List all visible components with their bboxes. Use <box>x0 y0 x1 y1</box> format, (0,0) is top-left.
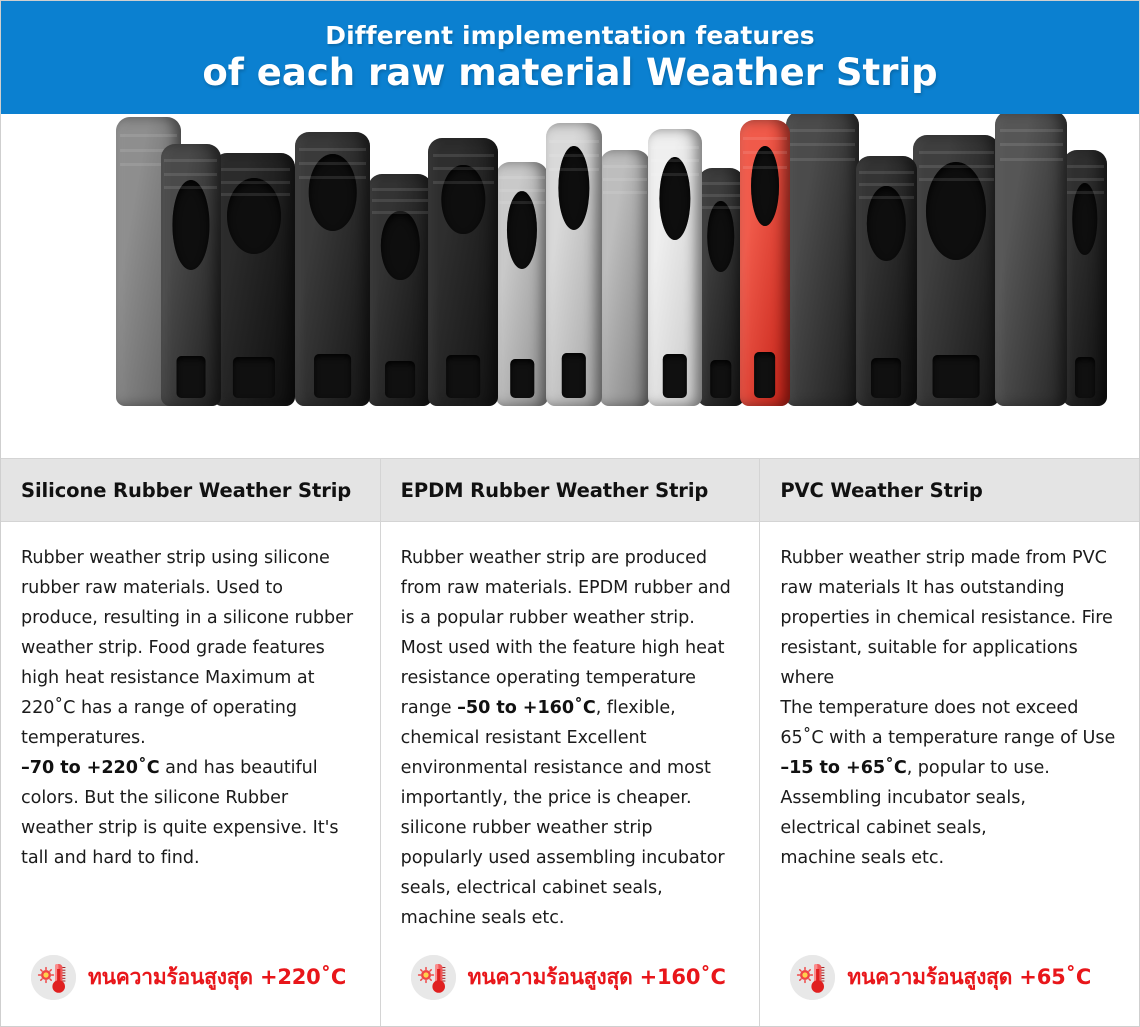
seal-rib <box>299 176 366 179</box>
column-description: Rubber weather strip using silicone rubb… <box>21 543 360 873</box>
banner-subtitle: Different implementation features <box>325 22 815 50</box>
seal-slot <box>871 358 901 398</box>
temperature-badge-label: ทนความร้อนสูงสุด +220˚C <box>88 961 346 994</box>
seal-rib <box>651 173 698 176</box>
seal-profile <box>913 135 999 406</box>
temperature-badge-label: ทนความร้อนสูงสุด +65˚C <box>847 961 1091 994</box>
body-text: electrical cabinet seals, <box>780 818 986 838</box>
seal-rib <box>372 199 428 202</box>
body-text: Assembling incubator seals, <box>780 788 1026 808</box>
seal-bore <box>558 146 589 231</box>
thermometer-icon <box>790 955 835 1000</box>
seal-rib <box>790 158 855 161</box>
seal-rib <box>603 178 647 181</box>
seal-rib <box>919 178 995 181</box>
seal-profile <box>213 153 295 406</box>
seal-slot <box>446 355 480 398</box>
seal-rib <box>790 129 855 132</box>
seal-profile <box>1063 150 1107 406</box>
column-spacer <box>780 873 1119 955</box>
column-title: PVC Weather Strip <box>780 479 982 502</box>
seal-rib <box>372 188 428 191</box>
seal-bore <box>381 211 419 281</box>
seal-rib <box>299 162 366 165</box>
seal-rib <box>1066 191 1105 194</box>
seal-bore <box>308 154 357 231</box>
seal-rib <box>651 146 698 149</box>
column-body-epdm: Rubber weather strip are produced from r… <box>381 522 760 1026</box>
seal-slot <box>562 353 586 398</box>
seal-bore <box>172 180 209 269</box>
seal-rib <box>433 154 494 157</box>
seal-rib <box>1000 129 1063 132</box>
seal-rib <box>218 193 290 196</box>
temperature-badge-epdm: ทนความร้อนสูงสุด +160˚C <box>401 955 740 1026</box>
seal-rib <box>651 159 698 162</box>
seal-rib <box>859 183 913 186</box>
seal-slot <box>1075 357 1095 398</box>
seal-slot <box>510 359 533 398</box>
seal-bore <box>751 146 779 226</box>
seal-slot <box>385 361 415 398</box>
body-text: Rubber weather strip using silicone rubb… <box>21 548 353 748</box>
seal-rib <box>499 189 545 192</box>
seal-profile <box>161 144 221 406</box>
column-header-pvc: PVC Weather Strip <box>760 459 1139 522</box>
weather-strip-photo <box>1 114 1139 458</box>
seal-profile <box>496 162 548 406</box>
comparison-table: Silicone Rubber Weather Strip Rubber wea… <box>1 458 1139 1026</box>
emphasis-text: –70 to +220˚C <box>21 758 160 778</box>
seal-slot <box>176 356 205 398</box>
seal-profile <box>856 156 918 406</box>
seal-rib <box>1066 178 1105 181</box>
temperature-badge-silicone: ทนความร้อนสูงสุด +220˚C <box>21 955 360 1026</box>
weather-strip-infographic: Different implementation features of eac… <box>0 0 1140 1027</box>
paragraph: Rubber weather strip made from PVC raw m… <box>780 543 1119 693</box>
seal-rib <box>743 151 787 154</box>
seal-profile <box>698 168 744 406</box>
body-text: machine seals etc. <box>780 848 944 868</box>
paragraph: Assembling incubator seals, <box>780 783 1119 813</box>
temperature-badge-label: ทนความร้อนสูงสุด +160˚C <box>468 961 726 994</box>
seal-rib <box>919 165 995 168</box>
seal-rib <box>919 151 995 154</box>
seal-rib <box>790 143 855 146</box>
seal-rib <box>743 166 787 169</box>
seal-bore <box>926 162 986 260</box>
seal-rib <box>549 168 598 171</box>
seal-rib <box>549 154 598 157</box>
column-body-silicone: Rubber weather strip using silicone rubb… <box>1 522 380 1026</box>
emphasis-text: –15 to +65˚C <box>780 758 906 778</box>
column-title: EPDM Rubber Weather Strip <box>401 479 709 502</box>
seal-bore <box>659 157 690 240</box>
seal-profile <box>546 123 602 406</box>
paragraph: Rubber weather strip using silicone rubb… <box>21 543 360 753</box>
seal-rib <box>603 191 647 194</box>
seal-rib <box>499 176 545 179</box>
emphasis-text: –50 to +160˚C <box>457 698 596 718</box>
seal-profile <box>295 132 371 406</box>
seal-rib <box>120 134 177 137</box>
seal-rib <box>603 165 647 168</box>
seal-rib <box>1066 165 1105 168</box>
seal-bore <box>1072 183 1097 255</box>
seal-rib <box>433 167 494 170</box>
seal-rib <box>701 194 741 197</box>
thermometer-icon <box>31 955 76 1000</box>
body-text: Rubber weather strip are produced from r… <box>401 548 731 718</box>
seal-slot <box>754 352 776 398</box>
seal-rib <box>218 181 290 184</box>
seal-rib <box>164 173 217 176</box>
seal-slot <box>710 360 731 398</box>
seal-rib <box>164 186 217 189</box>
seal-rib <box>1000 158 1063 161</box>
seal-rib <box>218 168 290 171</box>
paragraph: The temperature does not exceed 65˚C wit… <box>780 693 1119 783</box>
paragraph: electrical cabinet seals, <box>780 813 1119 843</box>
seal-rib <box>299 148 366 151</box>
column-spacer <box>401 933 740 955</box>
column-silicone: Silicone Rubber Weather Strip Rubber wea… <box>1 459 381 1026</box>
column-header-epdm: EPDM Rubber Weather Strip <box>381 459 760 522</box>
photo-fade <box>1 442 1139 458</box>
photo-inner <box>111 114 1109 406</box>
seal-rib <box>164 159 217 162</box>
body-text: The temperature does not exceed 65˚C wit… <box>780 698 1115 748</box>
column-header-silicone: Silicone Rubber Weather Strip <box>1 459 380 522</box>
column-epdm: EPDM Rubber Weather Strip Rubber weather… <box>381 459 761 1026</box>
paragraph: Rubber weather strip are produced from r… <box>401 543 740 933</box>
body-text: Rubber weather strip made from PVC raw m… <box>780 548 1112 688</box>
body-text: , popular to use. <box>907 758 1050 778</box>
seal-profile <box>995 114 1067 406</box>
seal-rib <box>1000 143 1063 146</box>
seal-profile <box>786 114 860 406</box>
column-description: Rubber weather strip are produced from r… <box>401 543 740 933</box>
seal-rib <box>701 182 741 185</box>
column-body-pvc: Rubber weather strip made from PVC raw m… <box>760 522 1139 1026</box>
seal-rib <box>859 196 913 199</box>
seal-profile <box>740 120 790 406</box>
seal-rib <box>433 181 494 184</box>
seal-bore <box>707 201 735 273</box>
seal-rib <box>372 211 428 214</box>
seal-rib <box>859 171 913 174</box>
banner-title: of each raw material Weather Strip <box>202 52 937 93</box>
seal-bore <box>442 165 485 235</box>
seal-profile <box>648 129 702 406</box>
seal-profile <box>428 138 498 406</box>
header-banner: Different implementation features of eac… <box>1 1 1139 114</box>
column-description: Rubber weather strip made from PVC raw m… <box>780 543 1119 873</box>
seal-profile <box>368 174 432 406</box>
paragraph: machine seals etc. <box>780 843 1119 873</box>
seal-rib <box>743 137 787 140</box>
seal-rib <box>701 206 741 209</box>
seal-profile <box>600 150 650 406</box>
seal-rib <box>499 201 545 204</box>
seal-slot <box>233 357 275 398</box>
column-pvc: PVC Weather Strip Rubber weather strip m… <box>760 459 1139 1026</box>
seal-bore <box>227 178 281 254</box>
seal-slot <box>314 354 352 398</box>
column-spacer <box>21 873 360 955</box>
temperature-badge-pvc: ทนความร้อนสูงสุด +65˚C <box>780 955 1119 1026</box>
seal-slot <box>933 355 980 398</box>
seal-slot <box>663 354 687 398</box>
column-title: Silicone Rubber Weather Strip <box>21 479 351 502</box>
thermometer-icon <box>411 955 456 1000</box>
body-text: , flexible, chemical resistant Excellent… <box>401 698 725 928</box>
paragraph: –70 to +220˚C and has beautiful colors. … <box>21 753 360 873</box>
seal-rib <box>549 140 598 143</box>
